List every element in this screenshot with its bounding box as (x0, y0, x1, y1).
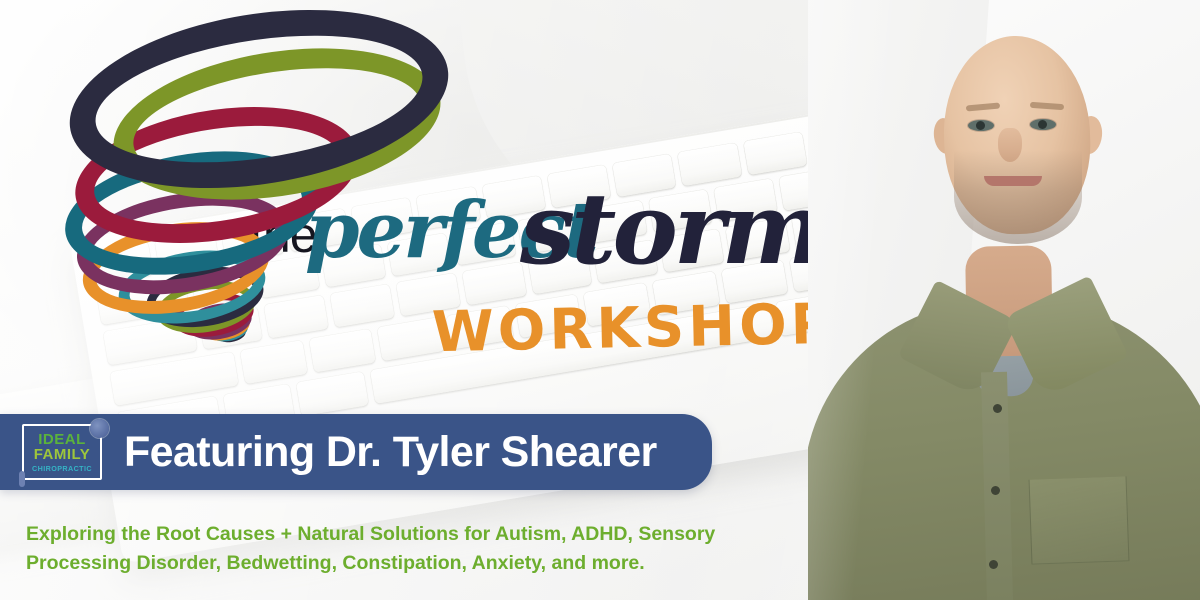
tornado-logo (60, 6, 440, 336)
banner-title: Featuring Dr. Tyler Shearer (124, 428, 657, 477)
featuring-banner: IDEAL FAMILY CHIROPRACTIC Featuring Dr. … (0, 414, 712, 490)
logo-line-chiropractic: CHIROPRACTIC (32, 465, 92, 472)
headline-storm: storm (520, 172, 821, 287)
headline-workshop: WORKSHOP (431, 292, 836, 365)
subtitle-text: Exploring the Root Causes + Natural Solu… (26, 520, 746, 579)
logo-line-family: FAMILY (34, 447, 91, 463)
spine-icon (19, 471, 25, 487)
logo-line-ideal: IDEAL (38, 432, 86, 447)
ideal-family-chiropractic-logo: IDEAL FAMILY CHIROPRACTIC (22, 424, 102, 480)
event-banner-poster: the perfect storm WORKSHOP IDEAL FAMILY … (0, 0, 1200, 600)
photo-edge-shade (808, 0, 1200, 600)
speaker-photo (808, 0, 1200, 600)
brain-icon (90, 419, 109, 438)
